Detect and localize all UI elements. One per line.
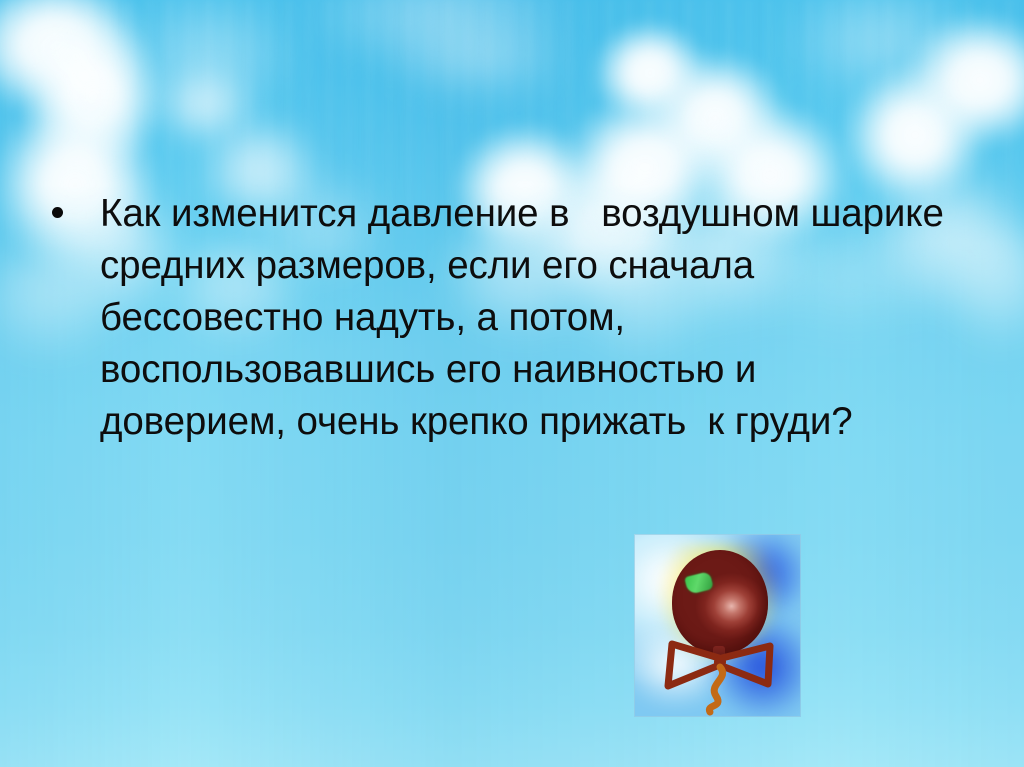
question-text: Как изменится давление в воздушном шарик… [63, 188, 952, 448]
slide-body-textbox: Как изменится давление в воздушном шарик… [52, 188, 952, 448]
cloud-puff [380, 20, 580, 100]
presentation-slide: Как изменится давление в воздушном шарик… [0, 0, 1024, 767]
bullet-list-item: Как изменится давление в воздушном шарик… [52, 188, 952, 448]
bullet-point-icon [52, 207, 63, 218]
balloon-ribbon-icon [634, 534, 801, 717]
balloon-image[interactable] [634, 534, 801, 717]
